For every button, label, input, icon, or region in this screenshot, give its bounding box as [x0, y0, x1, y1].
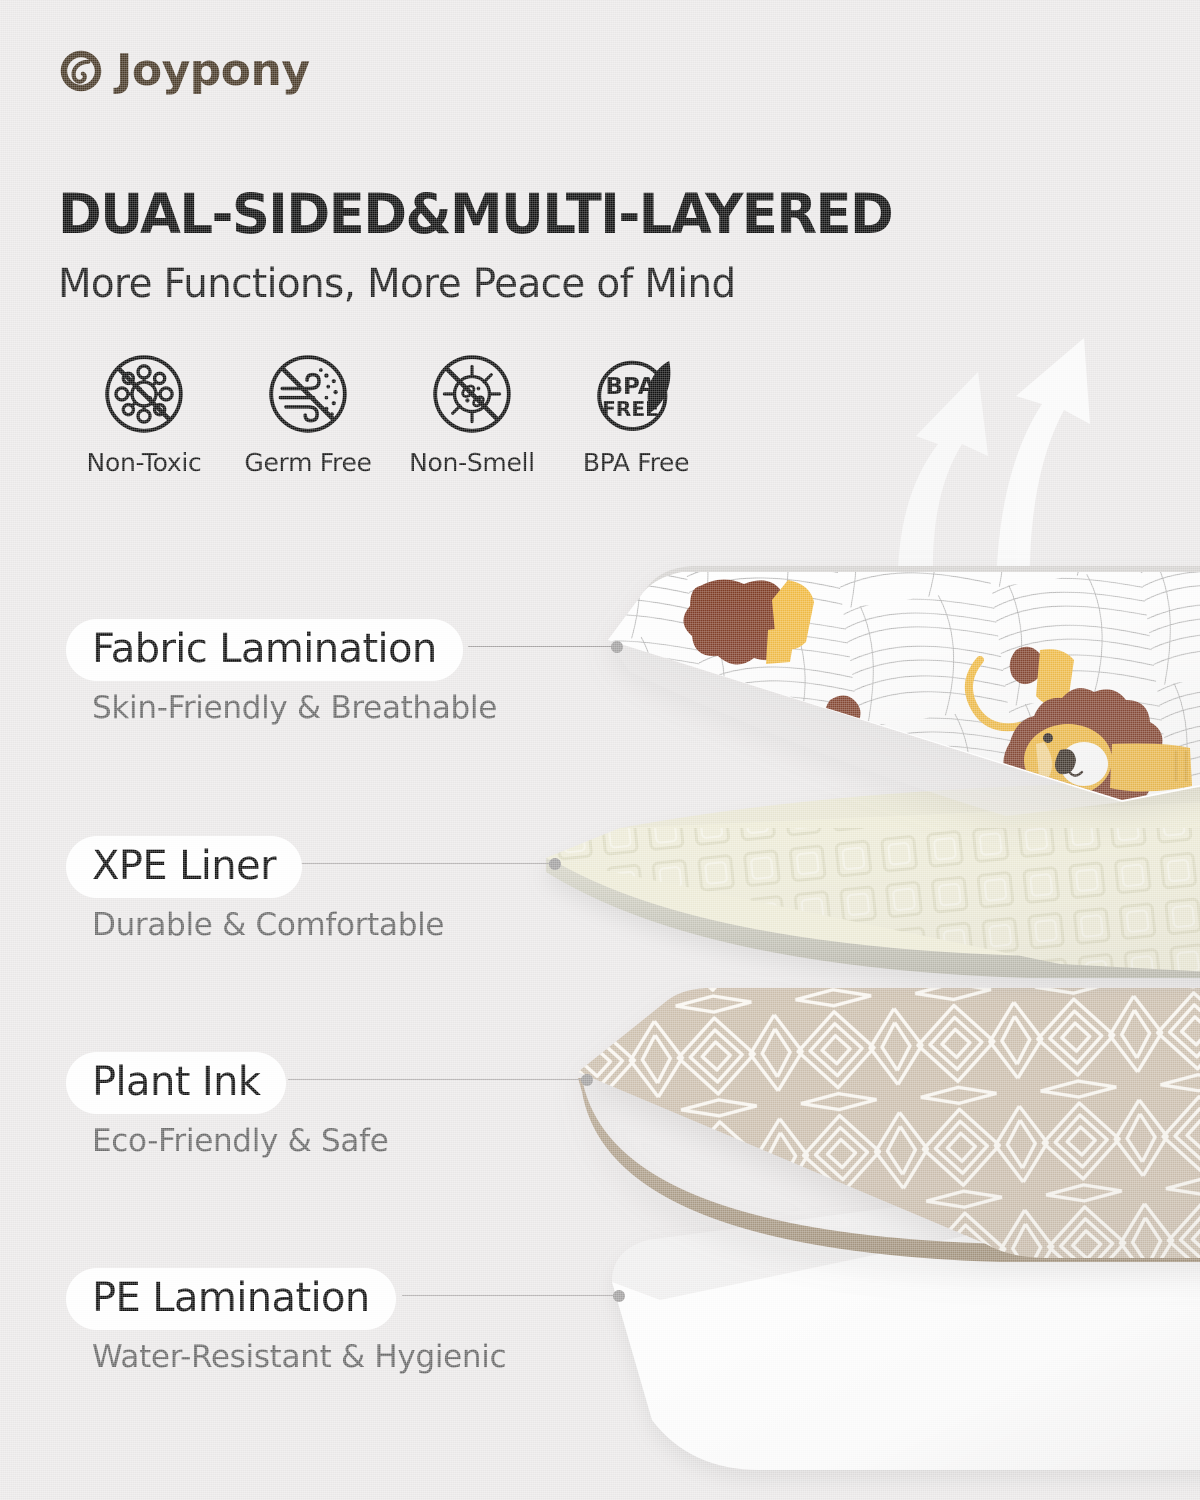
- callout-xpe-liner: XPE Liner Durable & Comfortable: [66, 836, 444, 943]
- badge-label: BPA Free: [583, 448, 689, 477]
- callout-subtitle: Durable & Comfortable: [92, 907, 444, 943]
- leader-dot: [581, 1074, 593, 1086]
- callout-plant-ink: Plant Ink Eco-Friendly & Safe: [66, 1052, 389, 1159]
- badge-label: Non-Smell: [409, 448, 535, 477]
- badge-non-toxic: Non-Toxic: [62, 348, 226, 477]
- callout-subtitle: Skin-Friendly & Breathable: [92, 690, 497, 726]
- brand-logo: Joypony: [58, 48, 310, 94]
- bpa-free-leaf-icon: BPA FREE: [590, 348, 682, 440]
- callout-fabric-lamination: Fabric Lamination Skin-Friendly & Breath…: [66, 619, 497, 726]
- badge-non-smell: Non-Smell: [390, 348, 554, 477]
- badge-germ-free: Germ Free: [226, 348, 390, 477]
- callout-title: Fabric Lamination: [66, 619, 463, 681]
- no-wind-particles-icon: [262, 348, 354, 440]
- callout-subtitle: Water-Resistant & Hygienic: [92, 1339, 506, 1375]
- feature-badge-row: Non-Toxic: [62, 348, 718, 477]
- badge-label: Non-Toxic: [87, 448, 202, 477]
- badge-label: Germ Free: [244, 448, 371, 477]
- page-title: DUAL-SIDED&MULTI-LAYERED: [58, 186, 892, 244]
- brand-name: Joypony: [116, 49, 310, 93]
- infographic-page: Joypony DUAL-SIDED&MULTI-LAYERED More Fu…: [0, 0, 1200, 1500]
- up-arrow-icon: [996, 338, 1090, 600]
- no-germ-icon: [426, 348, 518, 440]
- page-subtitle: More Functions, More Peace of Mind: [58, 262, 736, 306]
- layer-plant-ink: [540, 960, 1200, 1290]
- no-virus-icon: [98, 348, 190, 440]
- layer-fabric-lamination: [590, 560, 1200, 818]
- leader-dot: [611, 641, 623, 653]
- callout-title: PE Lamination: [66, 1268, 396, 1330]
- free-text: FREE: [602, 397, 659, 421]
- leader-dot: [549, 858, 561, 870]
- layer-xpe-liner: [520, 782, 1200, 990]
- callout-title: Plant Ink: [66, 1052, 286, 1114]
- callout-pe-lamination: PE Lamination Water-Resistant & Hygienic: [66, 1268, 506, 1375]
- callout-subtitle: Eco-Friendly & Safe: [92, 1123, 389, 1159]
- joypony-swirl-icon: [58, 48, 104, 94]
- leader-dot: [613, 1290, 625, 1302]
- up-arrow-icon-group: [898, 338, 1090, 600]
- up-arrow-icon: [898, 372, 988, 600]
- callout-title: XPE Liner: [66, 836, 302, 898]
- badge-bpa-free: BPA FREE BPA Free: [554, 348, 718, 477]
- bpa-text: BPA: [605, 374, 655, 400]
